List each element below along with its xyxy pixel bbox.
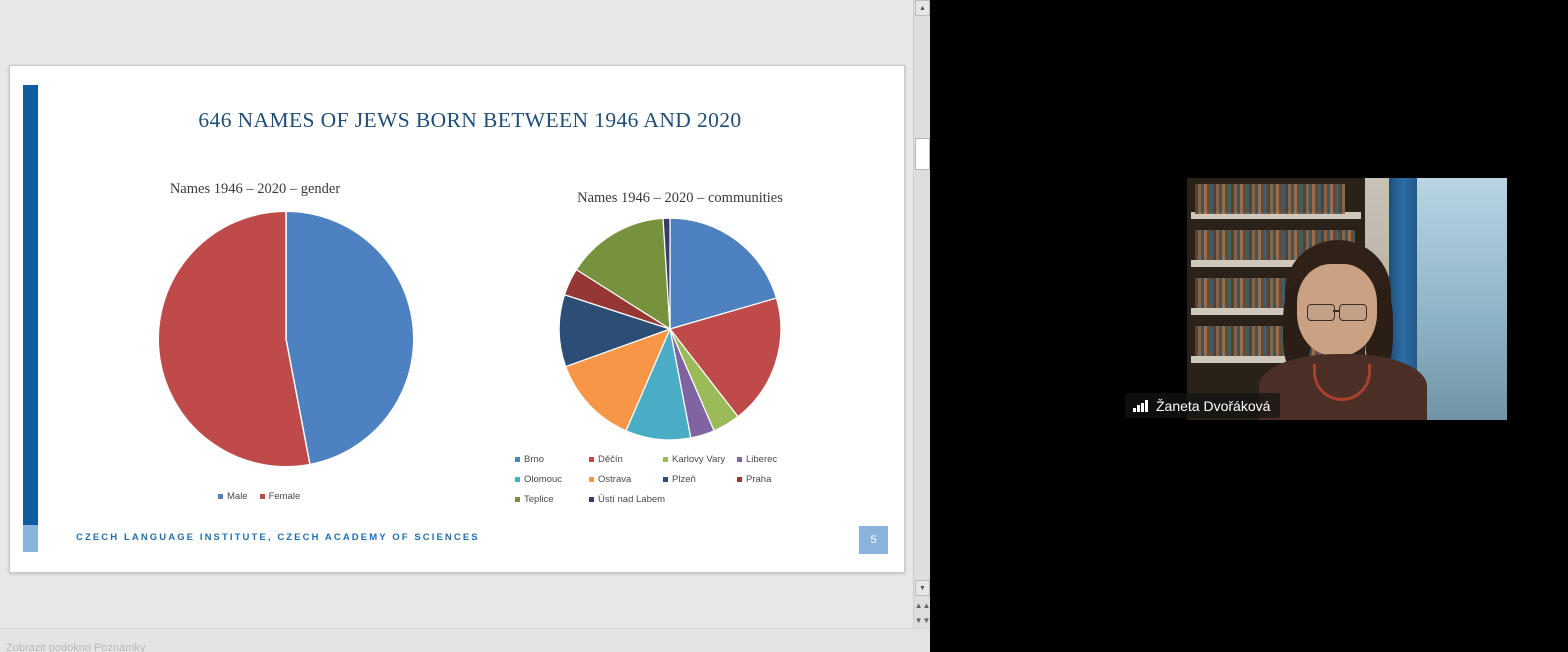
slide-number-badge: 5 [859, 526, 888, 554]
chart-communities-title: Names 1946 – 2020 – communities [480, 190, 880, 207]
legend-swatch [515, 477, 520, 482]
legend-label: Female [269, 491, 301, 502]
chart-gender-title: Names 1946 – 2020 – gender [45, 181, 465, 198]
legend-item: Ostrava [589, 474, 663, 485]
legend-label: Ústí nad Labem [598, 494, 665, 505]
eyeglasses-right-lens [1339, 304, 1367, 321]
participant-name-label: Žaneta Dvořáková [1156, 398, 1270, 414]
legend-swatch [589, 497, 594, 502]
legend-label: Brno [524, 454, 544, 465]
slide-title: 646 NAMES OF JEWS BORN BETWEEN 1946 AND … [70, 108, 870, 133]
webcam-video-tile[interactable] [1187, 178, 1507, 420]
legend-swatch [218, 494, 223, 499]
chart-gender-legend: MaleFemale [218, 491, 458, 502]
chart-gender-plot-area [45, 210, 465, 472]
gender-pie-svg [157, 210, 415, 468]
legend-item: Karlovy Vary [663, 454, 737, 465]
chart-gender: Names 1946 – 2020 – gender [45, 181, 465, 472]
legend-swatch [515, 497, 520, 502]
legend-item: Ústí nad Labem [589, 494, 663, 505]
participant-name-chip: Žaneta Dvořáková [1125, 393, 1280, 418]
scroll-up-button[interactable]: ▲ [915, 0, 930, 16]
scrollbar-thumb[interactable] [915, 138, 930, 170]
legend-item: Male [218, 491, 248, 502]
legend-label: Olomouc [524, 474, 562, 485]
legend-item: Praha [737, 474, 811, 485]
legend-swatch [589, 477, 594, 482]
legend-label: Teplice [524, 494, 554, 505]
slide-footer-text: CZECH LANGUAGE INSTITUTE, CZECH ACADEMY … [76, 532, 480, 543]
legend-item: Female [260, 491, 301, 502]
chart-communities-legend: BrnoDěčínKarlovy VaryLiberecOlomoucOstra… [515, 454, 815, 505]
signal-bars-icon [1133, 400, 1149, 412]
legend-item: Liberec [737, 454, 811, 465]
legend-swatch [515, 457, 520, 462]
slide-accent-bar [23, 85, 38, 552]
legend-label: Karlovy Vary [672, 454, 725, 465]
background-window [1417, 178, 1507, 420]
legend-label: Male [227, 491, 248, 502]
slide-accent-bar-foot [23, 525, 38, 552]
legend-label: Děčín [598, 454, 623, 465]
pie-slice-male [286, 211, 414, 464]
legend-item: Děčín [589, 454, 663, 465]
chart-communities: Names 1946 – 2020 – communities [480, 190, 880, 449]
legend-label: Praha [746, 474, 771, 485]
legend-swatch [663, 457, 668, 462]
legend-swatch [737, 477, 742, 482]
chart-communities-plot-area [480, 217, 880, 449]
legend-swatch [260, 494, 265, 499]
presentation-slide[interactable]: 646 NAMES OF JEWS BORN BETWEEN 1946 AND … [9, 65, 905, 573]
legend-label: Liberec [746, 454, 777, 465]
legend-swatch [737, 457, 742, 462]
eyeglasses-bridge [1333, 310, 1339, 312]
legend-label: Ostrava [598, 474, 631, 485]
communities-pie-svg [558, 217, 782, 441]
legend-item: Brno [515, 454, 589, 465]
scroll-down-button[interactable]: ▼ [915, 580, 930, 596]
legend-item: Olomouc [515, 474, 589, 485]
next-slide-button[interactable]: ▼▼ [915, 613, 930, 628]
previous-slide-button[interactable]: ▲▲ [915, 598, 930, 613]
vertical-scrollbar[interactable]: ▲ ▼ ▲▲ ▼▼ [913, 0, 931, 628]
legend-label: Plzeň [672, 474, 696, 485]
legend-swatch [589, 457, 594, 462]
video-conference-area: Žaneta Dvořáková [930, 0, 1568, 651]
legend-item: Plzeň [663, 474, 737, 485]
viewer-bottom-strip: Zobrazit podokno Poznámky [0, 628, 930, 652]
presentation-viewer-pane: 646 NAMES OF JEWS BORN BETWEEN 1946 AND … [0, 0, 930, 651]
slide-scroll-area[interactable]: 646 NAMES OF JEWS BORN BETWEEN 1946 AND … [0, 0, 913, 628]
legend-item: Teplice [515, 494, 589, 505]
eyeglasses-left-lens [1307, 304, 1335, 321]
legend-swatch [663, 477, 668, 482]
